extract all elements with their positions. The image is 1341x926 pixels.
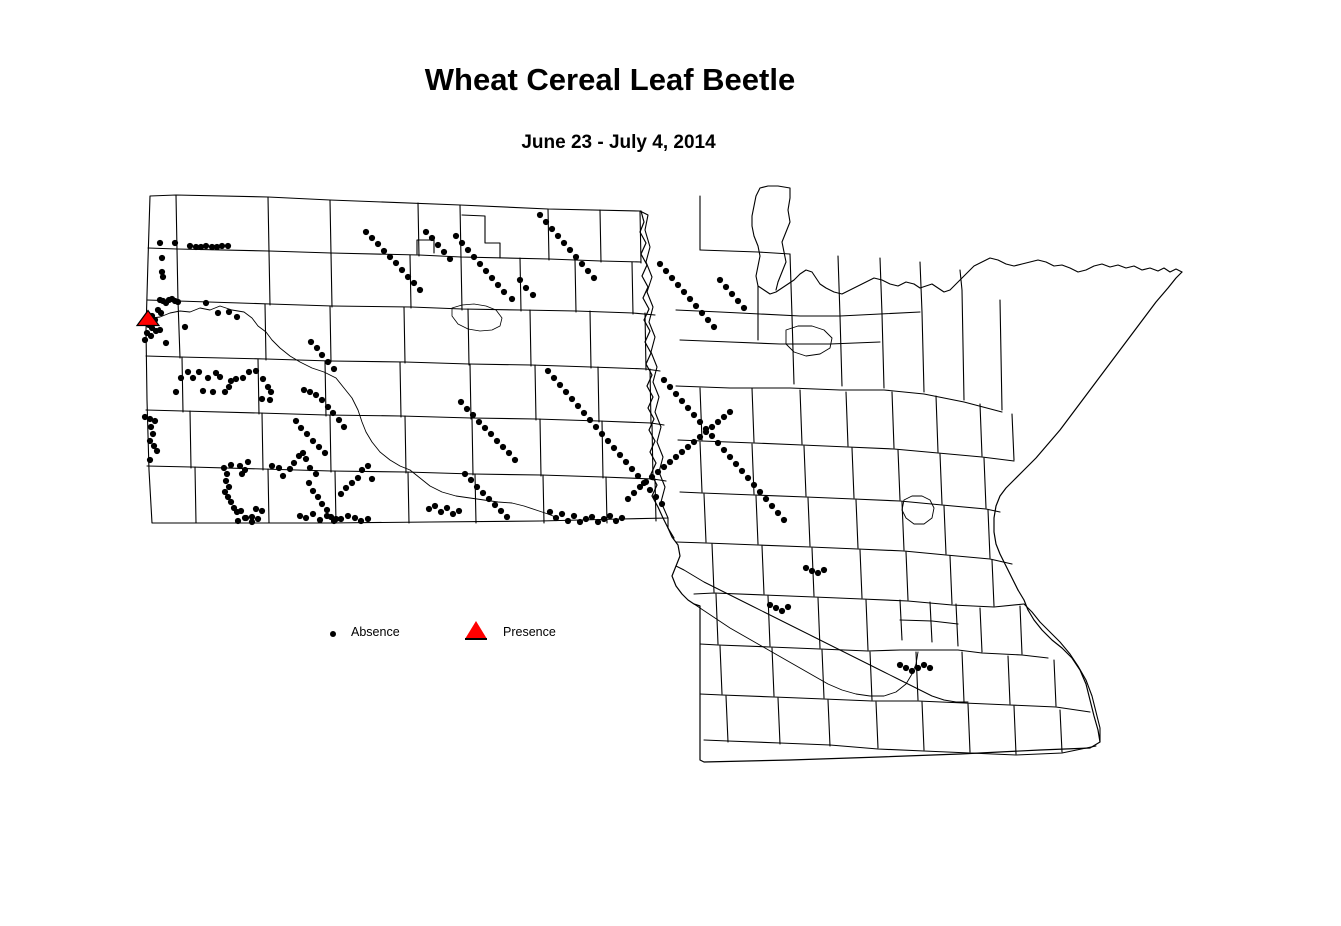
- absence-point: [709, 424, 715, 430]
- absence-point: [331, 518, 337, 524]
- absence-point: [655, 469, 661, 475]
- absence-point: [577, 519, 583, 525]
- absence-point: [715, 419, 721, 425]
- absence-point: [489, 275, 495, 281]
- absence-point: [297, 513, 303, 519]
- absence-point: [613, 518, 619, 524]
- absence-point: [255, 516, 261, 522]
- absence-point: [897, 662, 903, 668]
- absence-point: [735, 298, 741, 304]
- absence-point: [691, 412, 697, 418]
- absence-point: [240, 375, 246, 381]
- absence-point: [223, 478, 229, 484]
- absence-point: [215, 310, 221, 316]
- absence-point: [148, 424, 154, 430]
- absence-point: [330, 410, 336, 416]
- absence-point: [315, 494, 321, 500]
- absence-point: [157, 240, 163, 246]
- absence-point: [343, 485, 349, 491]
- absence-point: [175, 299, 181, 305]
- absence-point: [595, 519, 601, 525]
- absence-point: [699, 310, 705, 316]
- absence-point: [228, 462, 234, 468]
- absence-point: [709, 433, 715, 439]
- absence-point: [809, 568, 815, 574]
- absence-point: [715, 440, 721, 446]
- absence-point: [579, 261, 585, 267]
- absence-point: [769, 503, 775, 509]
- absence-point: [369, 235, 375, 241]
- absence-point: [465, 247, 471, 253]
- absence-point: [306, 480, 312, 486]
- absence-point: [293, 418, 299, 424]
- absence-point: [921, 662, 927, 668]
- absence-point: [506, 450, 512, 456]
- absence-point: [338, 516, 344, 522]
- absence-point: [691, 439, 697, 445]
- absence-point: [500, 444, 506, 450]
- absence-point: [150, 431, 156, 437]
- absence-point: [705, 317, 711, 323]
- absence-point: [280, 473, 286, 479]
- absence-point: [269, 463, 275, 469]
- absence-point: [203, 243, 209, 249]
- absence-point: [453, 233, 459, 239]
- absence-point: [681, 289, 687, 295]
- absence-point: [303, 456, 309, 462]
- absence-point: [178, 375, 184, 381]
- absence-point: [268, 389, 274, 395]
- absence-point: [322, 450, 328, 456]
- absence-point: [661, 377, 667, 383]
- absence-point: [260, 376, 266, 382]
- absence-point: [517, 277, 523, 283]
- absence-point: [555, 233, 561, 239]
- absence-point: [287, 466, 293, 472]
- absence-point: [471, 254, 477, 260]
- absence-point: [160, 274, 166, 280]
- absence-point: [741, 305, 747, 311]
- absence-point: [470, 412, 476, 418]
- absence-point: [549, 226, 555, 232]
- absence-point: [313, 471, 319, 477]
- absence-point: [246, 369, 252, 375]
- absence-point: [242, 467, 248, 473]
- absence-point: [589, 514, 595, 520]
- absence-point: [429, 235, 435, 241]
- absence-point: [234, 314, 240, 320]
- absence-point: [182, 324, 188, 330]
- absence-point: [172, 240, 178, 246]
- absence-point: [547, 509, 553, 515]
- absence-point: [717, 277, 723, 283]
- absence-point: [767, 602, 773, 608]
- absence-point: [486, 496, 492, 502]
- absence-point: [359, 467, 365, 473]
- absence-point: [537, 212, 543, 218]
- absence-point: [647, 487, 653, 493]
- absence-point: [679, 449, 685, 455]
- absence-point: [226, 484, 232, 490]
- absence-point: [637, 484, 643, 490]
- absence-point: [417, 287, 423, 293]
- absence-point: [365, 516, 371, 522]
- absence-point: [235, 518, 241, 524]
- absence-point: [245, 459, 251, 465]
- absence-point: [687, 296, 693, 302]
- absence-point: [711, 324, 717, 330]
- absence-point: [623, 459, 629, 465]
- absence-point: [190, 375, 196, 381]
- absence-point: [571, 513, 577, 519]
- absence-point: [721, 447, 727, 453]
- absence-point: [307, 465, 313, 471]
- absence-point: [435, 242, 441, 248]
- absence-point: [196, 369, 202, 375]
- absence-point: [341, 424, 347, 430]
- absence-point: [739, 468, 745, 474]
- absence-point: [601, 516, 607, 522]
- absence-point: [221, 465, 227, 471]
- absence-point: [432, 503, 438, 509]
- absence-point: [303, 515, 309, 521]
- presence-marker-base: [465, 638, 487, 640]
- absence-point: [228, 499, 234, 505]
- absence-point: [697, 419, 703, 425]
- absence-point: [310, 488, 316, 494]
- absence-point: [561, 240, 567, 246]
- absence-point: [393, 260, 399, 266]
- absence-point: [319, 501, 325, 507]
- absence-point: [349, 480, 355, 486]
- absence-point: [345, 513, 351, 519]
- absence-point: [509, 296, 515, 302]
- absence-point: [158, 310, 164, 316]
- absence-point: [745, 475, 751, 481]
- absence-point: [237, 463, 243, 469]
- absence-point: [210, 389, 216, 395]
- absence-point: [657, 261, 663, 267]
- absence-point: [643, 479, 649, 485]
- absence-point: [679, 398, 685, 404]
- absence-point: [148, 333, 154, 339]
- absence-marker-icon: [330, 631, 336, 637]
- absence-point: [553, 515, 559, 521]
- absence-point: [259, 508, 265, 514]
- absence-point: [494, 438, 500, 444]
- absence-point: [474, 484, 480, 490]
- absence-point: [523, 285, 529, 291]
- absence-point: [757, 489, 763, 495]
- absence-point: [721, 414, 727, 420]
- absence-point: [316, 444, 322, 450]
- absence-point: [317, 517, 323, 523]
- absence-point: [319, 352, 325, 358]
- absence-point: [314, 345, 320, 351]
- absence-point: [649, 474, 655, 480]
- absence-point: [659, 501, 665, 507]
- absence-point: [559, 511, 565, 517]
- absence-point: [927, 665, 933, 671]
- absence-point: [219, 243, 225, 249]
- absence-point: [605, 438, 611, 444]
- map-legend: Absence Presence: [318, 616, 598, 652]
- absence-point: [821, 567, 827, 573]
- absence-point: [441, 249, 447, 255]
- absence-point: [563, 389, 569, 395]
- absence-point: [729, 291, 735, 297]
- absence-point: [225, 243, 231, 249]
- absence-point: [575, 403, 581, 409]
- absence-point: [673, 391, 679, 397]
- absence-point: [785, 604, 791, 610]
- absence-point: [468, 477, 474, 483]
- absence-point: [723, 284, 729, 290]
- absence-point: [803, 565, 809, 571]
- absence-point: [477, 261, 483, 267]
- state-county-map: [0, 0, 1341, 926]
- absence-point: [217, 374, 223, 380]
- absence-point: [667, 384, 673, 390]
- absence-point: [530, 292, 536, 298]
- absence-point: [444, 505, 450, 511]
- absence-point: [338, 491, 344, 497]
- absence-point: [635, 473, 641, 479]
- absence-point: [375, 241, 381, 247]
- absence-point: [242, 515, 248, 521]
- absence-point: [495, 282, 501, 288]
- absence-point: [307, 389, 313, 395]
- absence-point: [661, 464, 667, 470]
- absence-point: [685, 444, 691, 450]
- absence-point: [387, 254, 393, 260]
- absence-point: [224, 471, 230, 477]
- absence-point: [365, 463, 371, 469]
- absence-point: [483, 268, 489, 274]
- absence-point: [152, 418, 158, 424]
- absence-point: [543, 219, 549, 225]
- absence-point: [727, 409, 733, 415]
- absence-points-layer: [142, 212, 933, 674]
- absence-point: [464, 406, 470, 412]
- absence-point: [685, 405, 691, 411]
- absence-point: [399, 267, 405, 273]
- absence-point: [607, 513, 613, 519]
- absence-point: [426, 506, 432, 512]
- absence-point: [593, 424, 599, 430]
- absence-point: [504, 514, 510, 520]
- absence-point: [310, 511, 316, 517]
- absence-point: [157, 327, 163, 333]
- absence-point: [545, 368, 551, 374]
- absence-point: [751, 482, 757, 488]
- absence-point: [438, 509, 444, 515]
- absence-point: [669, 275, 675, 281]
- absence-point: [569, 396, 575, 402]
- absence-point: [358, 518, 364, 524]
- absence-point: [915, 665, 921, 671]
- absence-point: [173, 389, 179, 395]
- absence-point: [629, 466, 635, 472]
- absence-point: [185, 369, 191, 375]
- absence-point: [573, 254, 579, 260]
- absence-point: [675, 282, 681, 288]
- absence-point: [163, 340, 169, 346]
- absence-point: [249, 519, 255, 525]
- absence-point: [381, 248, 387, 254]
- absence-point: [773, 605, 779, 611]
- absence-point: [310, 438, 316, 444]
- absence-point: [200, 388, 206, 394]
- absence-point: [591, 275, 597, 281]
- absence-point: [462, 471, 468, 477]
- absence-point: [565, 518, 571, 524]
- absence-point: [267, 397, 273, 403]
- absence-point: [476, 419, 482, 425]
- absence-point: [411, 280, 417, 286]
- absence-point: [308, 339, 314, 345]
- absence-point: [456, 508, 462, 514]
- absence-point: [352, 515, 358, 521]
- absence-point: [557, 382, 563, 388]
- absence-point: [673, 454, 679, 460]
- absence-point: [667, 459, 673, 465]
- absence-point: [703, 426, 709, 432]
- absence-point: [205, 375, 211, 381]
- absence-point: [253, 368, 259, 374]
- absence-point: [581, 410, 587, 416]
- absence-point: [458, 399, 464, 405]
- absence-point: [903, 665, 909, 671]
- absence-point: [779, 608, 785, 614]
- absence-point: [324, 507, 330, 513]
- absence-point: [447, 256, 453, 262]
- absence-point: [147, 438, 153, 444]
- absence-point: [480, 490, 486, 496]
- absence-point: [325, 359, 331, 365]
- absence-point: [617, 452, 623, 458]
- absence-point: [450, 511, 456, 517]
- absence-point: [300, 450, 306, 456]
- absence-point: [815, 570, 821, 576]
- absence-point: [488, 431, 494, 437]
- absence-point: [599, 431, 605, 437]
- absence-point: [154, 448, 160, 454]
- absence-point: [304, 431, 310, 437]
- legend-label-absence: Absence: [351, 625, 400, 639]
- absence-point: [159, 255, 165, 261]
- absence-point: [336, 417, 342, 423]
- absence-point: [203, 300, 209, 306]
- legend-label-presence: Presence: [503, 625, 556, 639]
- absence-point: [276, 465, 282, 471]
- absence-point: [512, 457, 518, 463]
- absence-point: [355, 475, 361, 481]
- absence-point: [492, 502, 498, 508]
- absence-point: [619, 515, 625, 521]
- absence-point: [238, 508, 244, 514]
- presence-marker-icon: [465, 621, 487, 639]
- absence-point: [147, 457, 153, 463]
- absence-point: [551, 375, 557, 381]
- absence-point: [142, 337, 148, 343]
- absence-point: [909, 668, 915, 674]
- absence-point: [259, 396, 265, 402]
- absence-point: [324, 513, 330, 519]
- absence-point: [423, 229, 429, 235]
- absence-point: [781, 517, 787, 523]
- absence-point: [187, 243, 193, 249]
- absence-point: [226, 309, 232, 315]
- absence-point: [733, 461, 739, 467]
- absence-point: [763, 496, 769, 502]
- absence-point: [583, 516, 589, 522]
- absence-point: [459, 240, 465, 246]
- absence-point: [775, 510, 781, 516]
- absence-point: [693, 303, 699, 309]
- absence-point: [363, 229, 369, 235]
- absence-point: [501, 289, 507, 295]
- absence-point: [498, 508, 504, 514]
- absence-point: [233, 376, 239, 382]
- absence-point: [482, 425, 488, 431]
- absence-point: [697, 434, 703, 440]
- absence-point: [727, 454, 733, 460]
- map-canvas: [0, 0, 1341, 926]
- absence-point: [653, 494, 659, 500]
- absence-point: [625, 496, 631, 502]
- absence-point: [301, 387, 307, 393]
- map-page: Wheat Cereal Leaf Beetle June 23 - July …: [0, 0, 1341, 926]
- absence-point: [319, 397, 325, 403]
- absence-point: [226, 384, 232, 390]
- absence-point: [405, 274, 411, 280]
- absence-point: [611, 445, 617, 451]
- absence-point: [331, 366, 337, 372]
- absence-point: [587, 417, 593, 423]
- absence-point: [369, 476, 375, 482]
- absence-point: [313, 392, 319, 398]
- absence-point: [291, 460, 297, 466]
- absence-point: [585, 268, 591, 274]
- absence-point: [222, 389, 228, 395]
- absence-point: [298, 425, 304, 431]
- absence-point: [567, 247, 573, 253]
- absence-point: [325, 404, 331, 410]
- absence-point: [253, 506, 259, 512]
- absence-point: [631, 490, 637, 496]
- absence-point: [663, 268, 669, 274]
